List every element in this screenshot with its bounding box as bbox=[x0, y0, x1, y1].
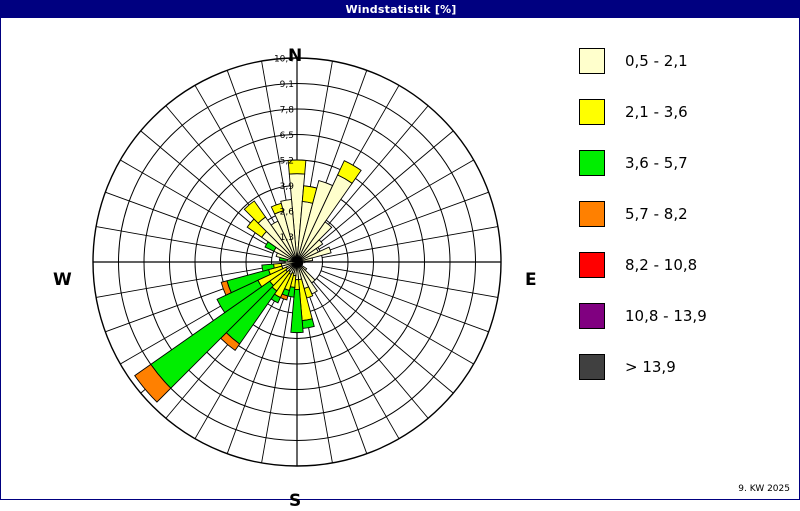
radial-tick-label: 9,1 bbox=[280, 80, 294, 90]
legend-label: 5,7 - 8,2 bbox=[625, 205, 688, 223]
legend-swatch bbox=[579, 48, 605, 74]
grid-spoke bbox=[322, 266, 498, 297]
radial-tick-label: 1,3 bbox=[280, 233, 294, 243]
legend-swatch bbox=[579, 303, 605, 329]
legend-label: 10,8 - 13,9 bbox=[625, 307, 707, 325]
compass-label-north: N bbox=[288, 46, 302, 66]
window-title: Windstatistik [%] bbox=[345, 3, 456, 16]
legend-label: 2,1 - 3,6 bbox=[625, 103, 688, 121]
legend-swatch bbox=[579, 150, 605, 176]
legend-label: 8,2 - 10,8 bbox=[625, 256, 697, 274]
grid-spoke bbox=[317, 278, 454, 393]
legend-row[interactable]: 5,7 - 8,2 bbox=[579, 188, 794, 239]
grid-spoke bbox=[313, 282, 428, 419]
windrose-app: Windstatistik [%] 1,32,63,95,26,57,89,11… bbox=[0, 0, 800, 500]
legend-swatch bbox=[579, 99, 605, 125]
legend-swatch bbox=[579, 201, 605, 227]
grid-spoke bbox=[322, 227, 498, 258]
legend-row[interactable]: 3,6 - 5,7 bbox=[579, 137, 794, 188]
legend: 0,5 - 2,12,1 - 3,63,6 - 5,75,7 - 8,28,2 … bbox=[579, 35, 794, 392]
legend-row[interactable]: 10,8 - 13,9 bbox=[579, 290, 794, 341]
grid-spoke bbox=[262, 287, 293, 463]
radial-tick-label: 7,8 bbox=[280, 106, 295, 116]
radial-tick-label: 3,9 bbox=[280, 182, 295, 192]
footer-week-label: 9. KW 2025 bbox=[738, 484, 790, 494]
legend-label: 0,5 - 2,1 bbox=[625, 52, 688, 70]
legend-row[interactable]: > 13,9 bbox=[579, 341, 794, 392]
legend-row[interactable]: 8,2 - 10,8 bbox=[579, 239, 794, 290]
grid-spoke bbox=[195, 85, 284, 240]
grid-spoke bbox=[306, 286, 367, 454]
legend-label: > 13,9 bbox=[625, 358, 676, 376]
legend-row[interactable]: 0,5 - 2,1 bbox=[579, 35, 794, 86]
grid-spoke bbox=[105, 192, 273, 253]
radial-tick-label: 5,2 bbox=[280, 157, 294, 167]
grid-spoke bbox=[321, 271, 489, 332]
grid-spoke bbox=[321, 192, 489, 253]
compass-label-west: W bbox=[53, 270, 72, 290]
windrose-plot-area: 1,32,63,95,26,57,89,110,4 N E S W bbox=[1, 18, 567, 499]
legend-swatch bbox=[579, 354, 605, 380]
legend-swatch bbox=[579, 252, 605, 278]
compass-label-east: E bbox=[525, 270, 537, 290]
windrose-petals bbox=[135, 160, 361, 402]
legend-row[interactable]: 2,1 - 3,6 bbox=[579, 86, 794, 137]
windrose-petal-segment bbox=[302, 319, 314, 329]
grid-spoke bbox=[313, 106, 428, 243]
grid-spoke bbox=[96, 227, 272, 258]
radial-tick-label: 6,5 bbox=[280, 131, 294, 141]
compass-label-south: S bbox=[289, 491, 301, 511]
window-titlebar: Windstatistik [%] bbox=[1, 1, 800, 18]
grid-spoke bbox=[310, 284, 399, 439]
legend-label: 3,6 - 5,7 bbox=[625, 154, 688, 172]
grid-spoke bbox=[319, 275, 474, 364]
windrose-chart: 1,32,63,95,26,57,89,110,4 bbox=[1, 18, 567, 499]
radial-tick-label: 2,6 bbox=[280, 208, 295, 218]
